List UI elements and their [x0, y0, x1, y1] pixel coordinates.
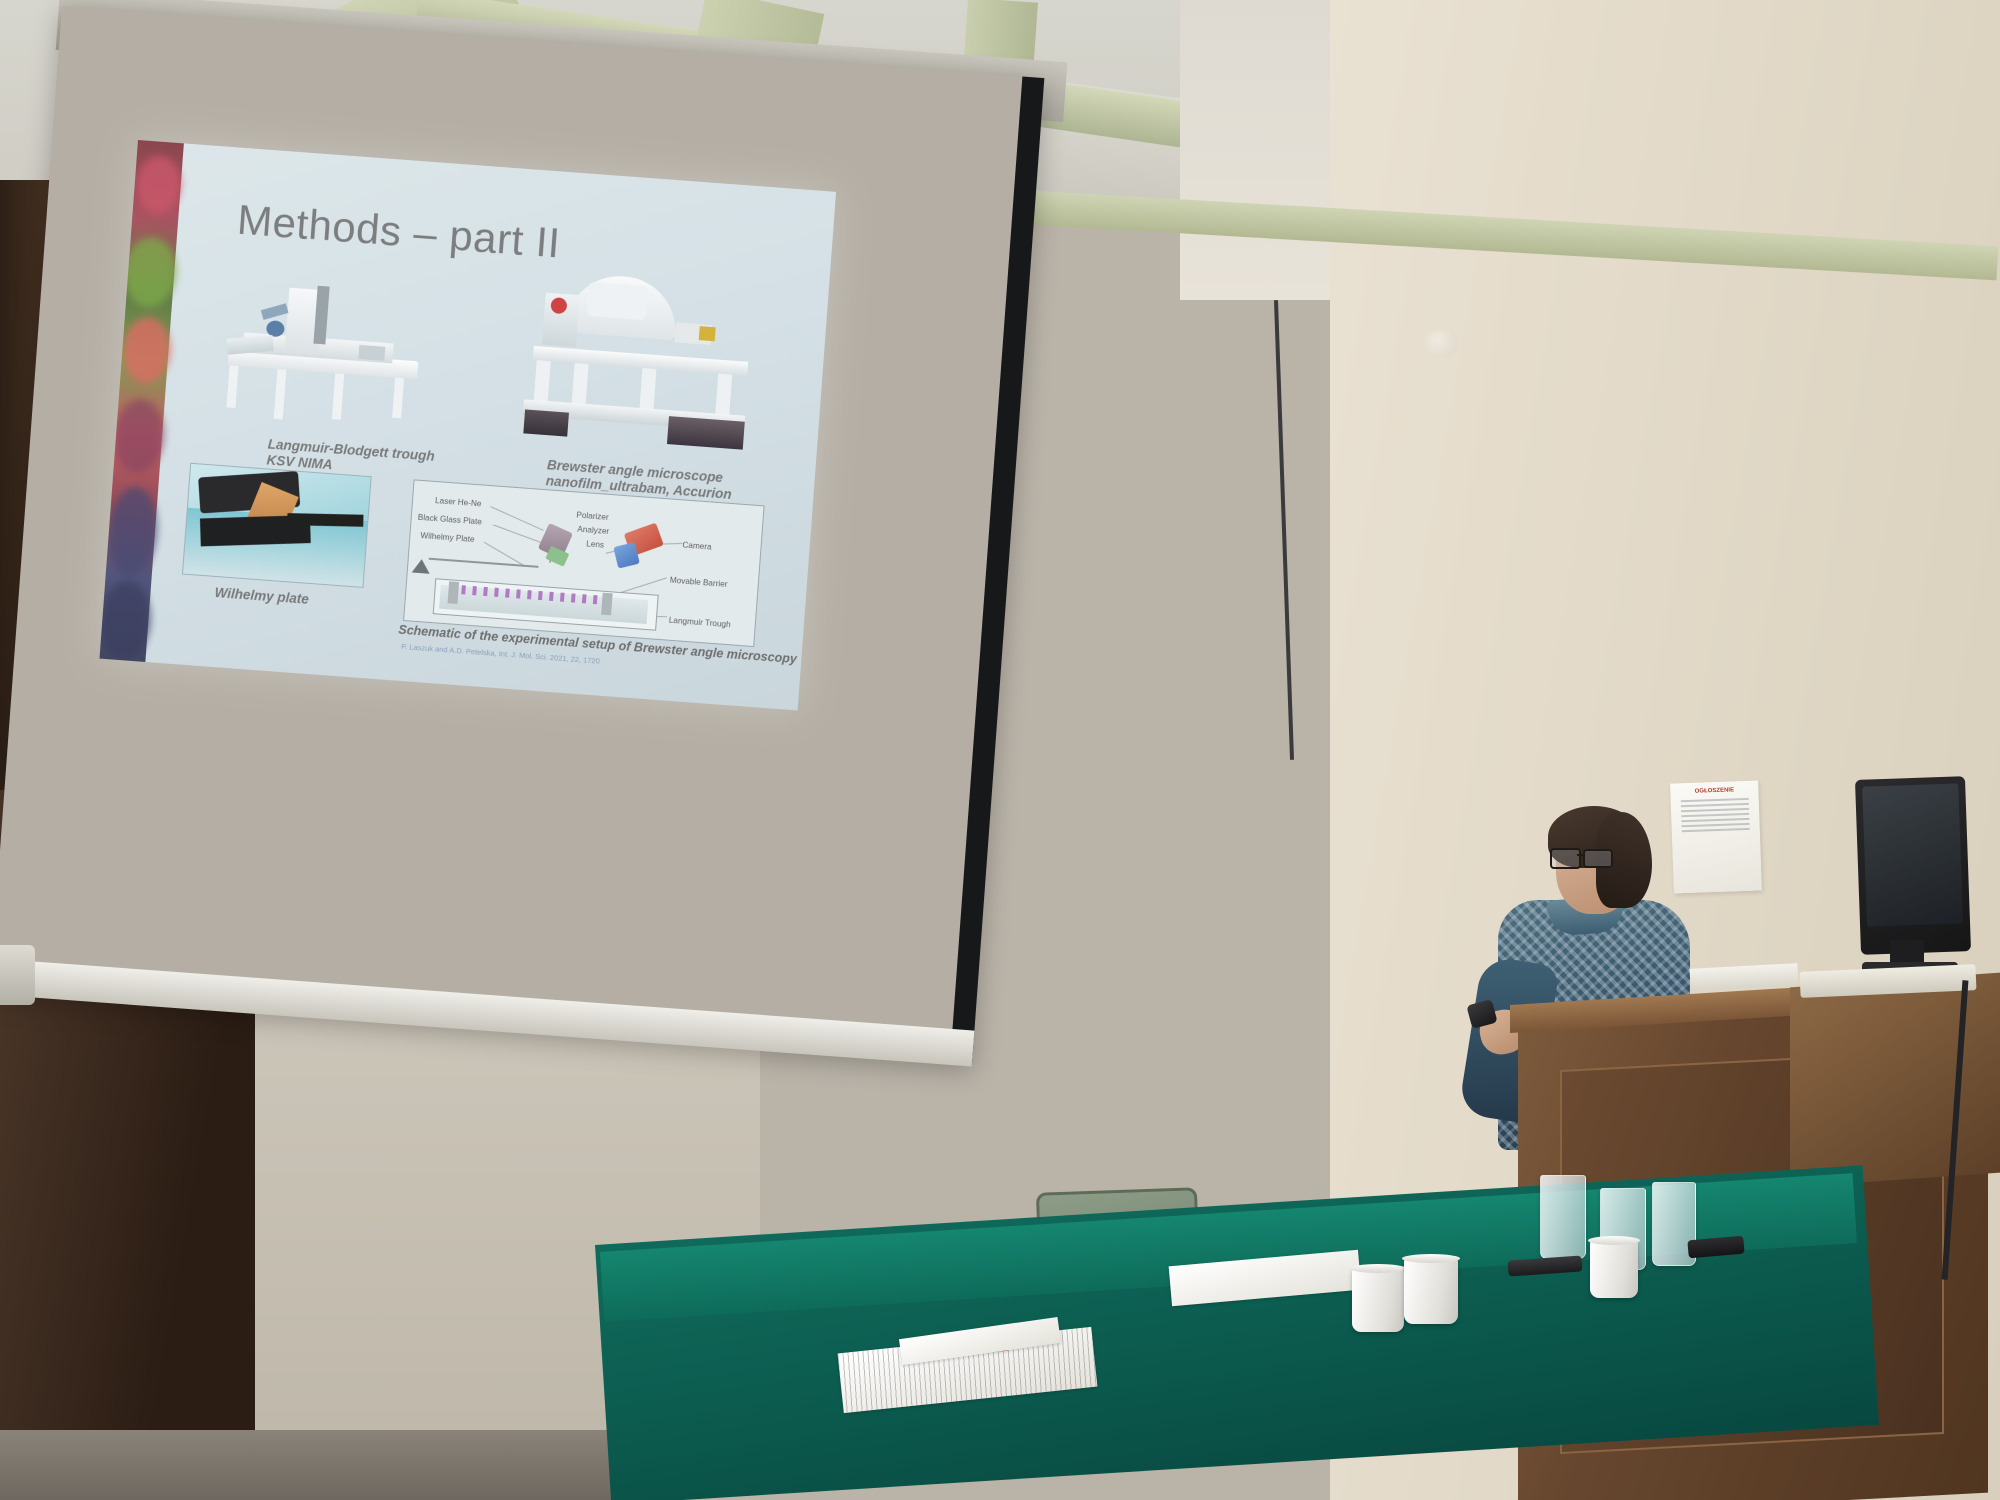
leader-line: [621, 577, 667, 593]
schematic-label-lens: Lens: [586, 539, 604, 549]
notice-line: [1681, 813, 1749, 817]
glasses-left-lens: [1550, 848, 1581, 869]
schematic-label-black-glass-plate: Black Glass Plate: [417, 513, 482, 527]
monitor-screen: [1862, 783, 1963, 926]
langmuir-blodgett-trough-image: [203, 272, 443, 439]
wilhelmy-plate-photo: [182, 463, 372, 588]
projected-slide: Methods – part II Langmuir-Blodgett trou…: [99, 140, 836, 710]
strip-blob: [106, 485, 161, 578]
strip-blob: [111, 397, 166, 475]
brewster-schematic: Laser He-Ne Black Glass Plate Wilhelmy P…: [403, 479, 765, 647]
schematic-label-langmuir-trough: Langmuir Trough: [669, 616, 731, 630]
photo-scene: OGŁOSZENIE Methods – part II: [0, 0, 2000, 1500]
caption-wilhelmy-plate: Wilhelmy plate: [214, 585, 309, 608]
computer-monitor[interactable]: [1855, 776, 1971, 955]
strip-blob: [135, 154, 183, 215]
cup-rim: [1588, 1236, 1640, 1245]
slide-title: Methods – part II: [236, 196, 562, 268]
wall-notice: OGŁOSZENIE: [1670, 780, 1762, 893]
notice-title: OGŁOSZENIE: [1676, 787, 1752, 797]
glasses-right-lens: [1583, 849, 1613, 868]
water-glass[interactable]: [1540, 1175, 1586, 1259]
barrier-right: [601, 593, 613, 616]
schematic-label-wilhelmy-plate: Wilhelmy Plate: [420, 531, 475, 544]
notice-line: [1681, 808, 1749, 812]
cup[interactable]: [1352, 1268, 1404, 1332]
brewster-angle-microscope-image: [516, 269, 779, 467]
notice-line: [1681, 803, 1749, 807]
strip-blob: [99, 579, 153, 662]
schematic-label-laser: Laser He-Ne: [435, 496, 482, 508]
smoke-detector-icon: [1424, 330, 1458, 358]
notice-line: [1682, 828, 1750, 832]
strip-blob: [122, 235, 179, 309]
notice-line: [1682, 823, 1750, 827]
screen-roller: [0, 945, 35, 1005]
floor: [0, 1430, 620, 1500]
strip-blob: [120, 316, 173, 385]
schematic-label-polarizer: Polarizer: [576, 511, 609, 522]
schematic-label-analyzer: Analyzer: [577, 525, 609, 536]
cup-rim: [1402, 1254, 1460, 1263]
notice-line: [1681, 818, 1749, 822]
schematic-label-movable-barrier: Movable Barrier: [670, 576, 728, 589]
barrier-left: [448, 581, 460, 604]
cup[interactable]: [1404, 1258, 1458, 1324]
side-desk: [1790, 973, 2000, 1188]
schematic-label-camera: Camera: [682, 540, 712, 551]
cup-rim: [1350, 1264, 1406, 1273]
glasses-icon: [1550, 848, 1612, 865]
support-triangle: [412, 559, 431, 574]
wall-cable: [1274, 300, 1294, 760]
cup[interactable]: [1590, 1240, 1638, 1298]
support-bar: [429, 558, 539, 568]
notice-line: [1681, 798, 1749, 802]
